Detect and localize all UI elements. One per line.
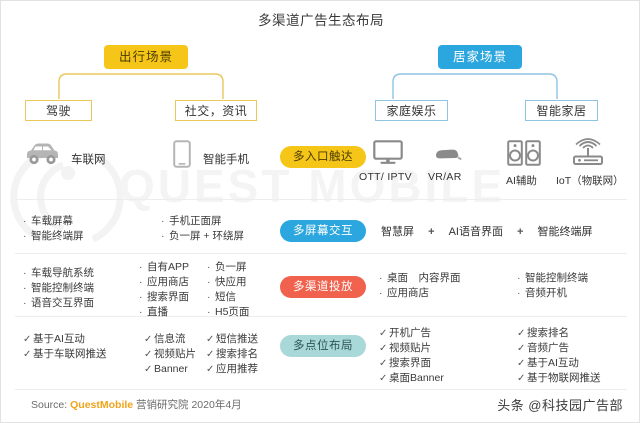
smartphone-icon <box>173 140 191 168</box>
bullet-icon: · <box>23 281 31 296</box>
channel-list-driving: ·车载导航系统 ·智能控制终端 ·语音交互界面 <box>23 266 94 311</box>
category-box-driving[interactable]: 驾驶 <box>25 100 92 121</box>
list-item: ✓视频贴片 <box>144 347 196 362</box>
bracket-home <box>375 70 575 100</box>
list-item: ·应用商店 <box>379 286 461 301</box>
publisher-credit: 头条 @科技园广告部 <box>497 395 623 414</box>
entry-label-ott: OTT/ IPTV <box>359 171 412 183</box>
row-pill-multi-channel[interactable]: 多渠道投放 <box>280 276 366 298</box>
category-box-social[interactable]: 社交，资讯 <box>175 100 257 121</box>
channel-list-home-ent: ·桌面 内容界面 ·应用商店 <box>379 271 461 301</box>
slot-list-driving: ✓基于AI互动 ✓基于车联网推送 <box>23 332 107 362</box>
list-item: ✓开机广告 <box>379 326 444 341</box>
list-item: ·短信 <box>207 290 249 305</box>
slot-list-home-ent: ✓开机广告 ✓视频贴片 ✓搜索界面 ✓桌面Banner <box>379 326 444 386</box>
page-title: 多渠道广告生态布局 <box>1 9 640 29</box>
router-icon <box>569 137 607 167</box>
bullet-icon: · <box>23 296 31 311</box>
check-icon: ✓ <box>517 371 527 386</box>
row-pill-multi-entry[interactable]: 多入口触达 <box>280 146 366 168</box>
bullet-icon: · <box>23 266 31 281</box>
list-item: ·语音交互界面 <box>23 296 94 311</box>
check-icon: ✓ <box>206 347 216 362</box>
bullet-icon: · <box>517 271 525 286</box>
row-pill-multi-slot[interactable]: 多点位布局 <box>280 335 366 357</box>
channel-list-smart-home: ·智能控制终端 ·音频开机 <box>517 271 588 301</box>
car-icon <box>23 141 61 167</box>
monitor-icon <box>373 140 403 165</box>
check-icon: ✓ <box>23 347 33 362</box>
list-item: ✓信息流 <box>144 332 196 347</box>
list-item: ✓音频广告 <box>517 341 601 356</box>
check-icon: ✓ <box>144 347 154 362</box>
entry-label-iot: IoT（物联网） <box>556 173 624 188</box>
divider-2 <box>15 253 627 254</box>
bullet-icon: · <box>207 290 215 305</box>
row-pill-multi-screen[interactable]: 多屏幕交互 <box>280 220 366 242</box>
list-item: ✓视频贴片 <box>379 341 444 356</box>
check-icon: ✓ <box>379 371 389 386</box>
entry-item-ott <box>373 140 403 165</box>
list-item: ·应用商店 <box>139 275 189 290</box>
screen-plus-row-home: 智慧屏 + AI语音界面 + 智能终端屏 <box>379 223 595 239</box>
check-icon: ✓ <box>206 362 216 377</box>
check-icon: ✓ <box>23 332 33 347</box>
list-item: ·快应用 <box>207 275 249 290</box>
divider-4 <box>15 389 627 390</box>
bullet-icon: · <box>379 271 387 286</box>
check-icon: ✓ <box>379 356 389 371</box>
bullet-icon: · <box>207 305 215 320</box>
list-item: ✓基于AI互动 <box>23 332 107 347</box>
check-icon: ✓ <box>206 332 216 347</box>
bullet-icon: · <box>139 260 147 275</box>
check-icon: ✓ <box>379 326 389 341</box>
scene-pill-home[interactable]: 居家场景 <box>438 45 522 69</box>
entry-item-ai-speaker <box>507 140 541 166</box>
bullet-icon: · <box>161 229 169 244</box>
category-box-home-entertainment[interactable]: 家庭娱乐 <box>375 100 448 121</box>
slot-list-social-col1: ✓信息流 ✓视频贴片 ✓Banner <box>144 332 196 377</box>
list-item: ·自有APP <box>139 260 189 275</box>
vr-headset-icon <box>433 147 463 163</box>
list-item: ✓基于物联网推送 <box>517 371 601 386</box>
list-item: ✓搜索排名 <box>517 326 601 341</box>
slot-list-smart-home: ✓搜索排名 ✓音频广告 ✓基于AI互动 ✓基于物联网推送 <box>517 326 601 386</box>
channel-list-social-col2: ·负一屏 ·快应用 ·短信 ·H5页面 <box>207 260 249 320</box>
plus-icon: + <box>508 226 532 238</box>
source-suffix: 营销研究院 2020年4月 <box>136 399 242 411</box>
list-item: ✓搜索排名 <box>206 347 258 362</box>
screen-list-driving: ·车载屏幕 ·智能终端屏 <box>23 214 84 244</box>
entry-label-car: 车联网 <box>71 151 106 167</box>
list-item: ✓应用推荐 <box>206 362 258 377</box>
list-item: ✓基于车联网推送 <box>23 347 107 362</box>
bullet-icon: · <box>207 260 215 275</box>
list-item: ·车载屏幕 <box>23 214 84 229</box>
screen-list-social: ·手机正面屏 ·负一屏 + 环绕屏 <box>161 214 244 244</box>
source-prefix: Source: <box>31 399 67 411</box>
check-icon: ✓ <box>144 332 154 347</box>
entry-item-iot <box>569 137 607 167</box>
bullet-icon: · <box>139 275 147 290</box>
list-item: ·音频开机 <box>517 286 588 301</box>
list-item: ✓桌面Banner <box>379 371 444 386</box>
entry-label-smartphone: 智能手机 <box>203 151 249 167</box>
check-icon: ✓ <box>144 362 154 377</box>
channel-list-social-col1: ·自有APP ·应用商店 ·搜索界面 ·直播 <box>139 260 189 320</box>
speakers-icon <box>507 140 541 166</box>
screen-token-2: AI语音界面 <box>447 226 505 238</box>
list-item: ·智能控制终端 <box>517 271 588 286</box>
scene-pill-travel[interactable]: 出行场景 <box>104 45 188 69</box>
bracket-travel <box>41 70 241 100</box>
entry-item-vr <box>433 147 463 163</box>
entry-item-car <box>23 141 61 167</box>
bullet-icon: · <box>161 214 169 229</box>
screen-token-1: 智慧屏 <box>379 226 416 238</box>
infographic-canvas: QUEST MOBILE 多渠道广告生态布局 出行场景 居家场景 驾驶 社交，资… <box>0 0 640 423</box>
list-item: ·搜索界面 <box>139 290 189 305</box>
slot-list-social-col2: ✓短信推送 ✓搜索排名 ✓应用推荐 <box>206 332 258 377</box>
list-item: ·直播 <box>139 305 189 320</box>
list-item: ·负一屏 + 环绕屏 <box>161 229 244 244</box>
bullet-icon: · <box>139 290 147 305</box>
list-item: ✓短信推送 <box>206 332 258 347</box>
bullet-icon: · <box>517 286 525 301</box>
list-item: ✓搜索界面 <box>379 356 444 371</box>
divider-1 <box>15 199 627 200</box>
bullet-icon: · <box>23 214 31 229</box>
check-icon: ✓ <box>517 356 527 371</box>
bullet-icon: · <box>379 286 387 301</box>
source-brand: QuestMobile <box>70 399 133 411</box>
entry-label-vr: VR/AR <box>428 171 462 183</box>
divider-3 <box>15 316 627 317</box>
bullet-icon: · <box>23 229 31 244</box>
list-item: ✓Banner <box>144 362 196 377</box>
list-item: ·负一屏 <box>207 260 249 275</box>
entry-item-smartphone <box>173 140 191 168</box>
entry-label-ai: AI辅助 <box>506 173 537 188</box>
check-icon: ✓ <box>379 341 389 356</box>
list-item: ·智能终端屏 <box>23 229 84 244</box>
plus-icon: + <box>419 226 443 238</box>
bullet-icon: · <box>207 275 215 290</box>
list-item: ·车载导航系统 <box>23 266 94 281</box>
list-item: ·H5页面 <box>207 305 249 320</box>
list-item: ·手机正面屏 <box>161 214 244 229</box>
bullet-icon: · <box>139 305 147 320</box>
list-item: ✓基于AI互动 <box>517 356 601 371</box>
check-icon: ✓ <box>517 341 527 356</box>
list-item: ·桌面 内容界面 <box>379 271 461 286</box>
check-icon: ✓ <box>517 326 527 341</box>
category-box-smart-home[interactable]: 智能家居 <box>525 100 598 121</box>
source-note: Source: QuestMobile 营销研究院 2020年4月 <box>31 397 242 412</box>
list-item: ·智能控制终端 <box>23 281 94 296</box>
screen-token-3: 智能终端屏 <box>536 226 595 238</box>
